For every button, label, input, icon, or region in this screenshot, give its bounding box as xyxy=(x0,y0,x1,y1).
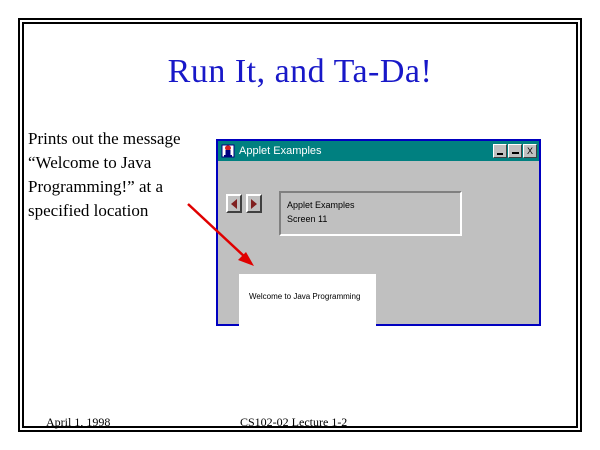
window-client-area: Applet Examples Screen 11 Welcome to Jav… xyxy=(218,161,539,324)
next-button[interactable] xyxy=(246,194,262,213)
previous-button[interactable] xyxy=(226,194,242,213)
window-close-button[interactable]: X xyxy=(523,144,537,158)
window-minimize-button[interactable] xyxy=(493,144,507,158)
navigation-buttons xyxy=(226,194,262,213)
footer-date: April 1, 1998 xyxy=(46,415,110,430)
example-info-panel: Applet Examples Screen 11 xyxy=(279,191,462,236)
arrow-right-icon xyxy=(251,199,257,209)
window-maximize-button[interactable] xyxy=(508,144,522,158)
minimize-icon xyxy=(497,153,503,155)
maximize-icon xyxy=(512,152,519,154)
applet-examples-window[interactable]: Applet Examples X Applet Examples Screen… xyxy=(216,139,541,326)
footer-course-label: CS102-02 Lecture 1-2 xyxy=(240,415,347,430)
page-title: Run It, and Ta-Da! xyxy=(0,52,600,92)
canvas-message-text: Welcome to Java Programming xyxy=(249,292,360,302)
list-item: Screen 11 xyxy=(287,212,460,226)
window-titlebar[interactable]: Applet Examples X xyxy=(218,141,539,161)
list-item: Applet Examples xyxy=(287,198,460,212)
java-applet-icon xyxy=(221,144,235,158)
arrow-left-icon xyxy=(231,199,237,209)
window-title-label: Applet Examples xyxy=(239,145,492,157)
slide-body-text: Prints out the message “Welcome to Java … xyxy=(28,127,228,223)
applet-output-canvas: Welcome to Java Programming xyxy=(239,274,376,326)
